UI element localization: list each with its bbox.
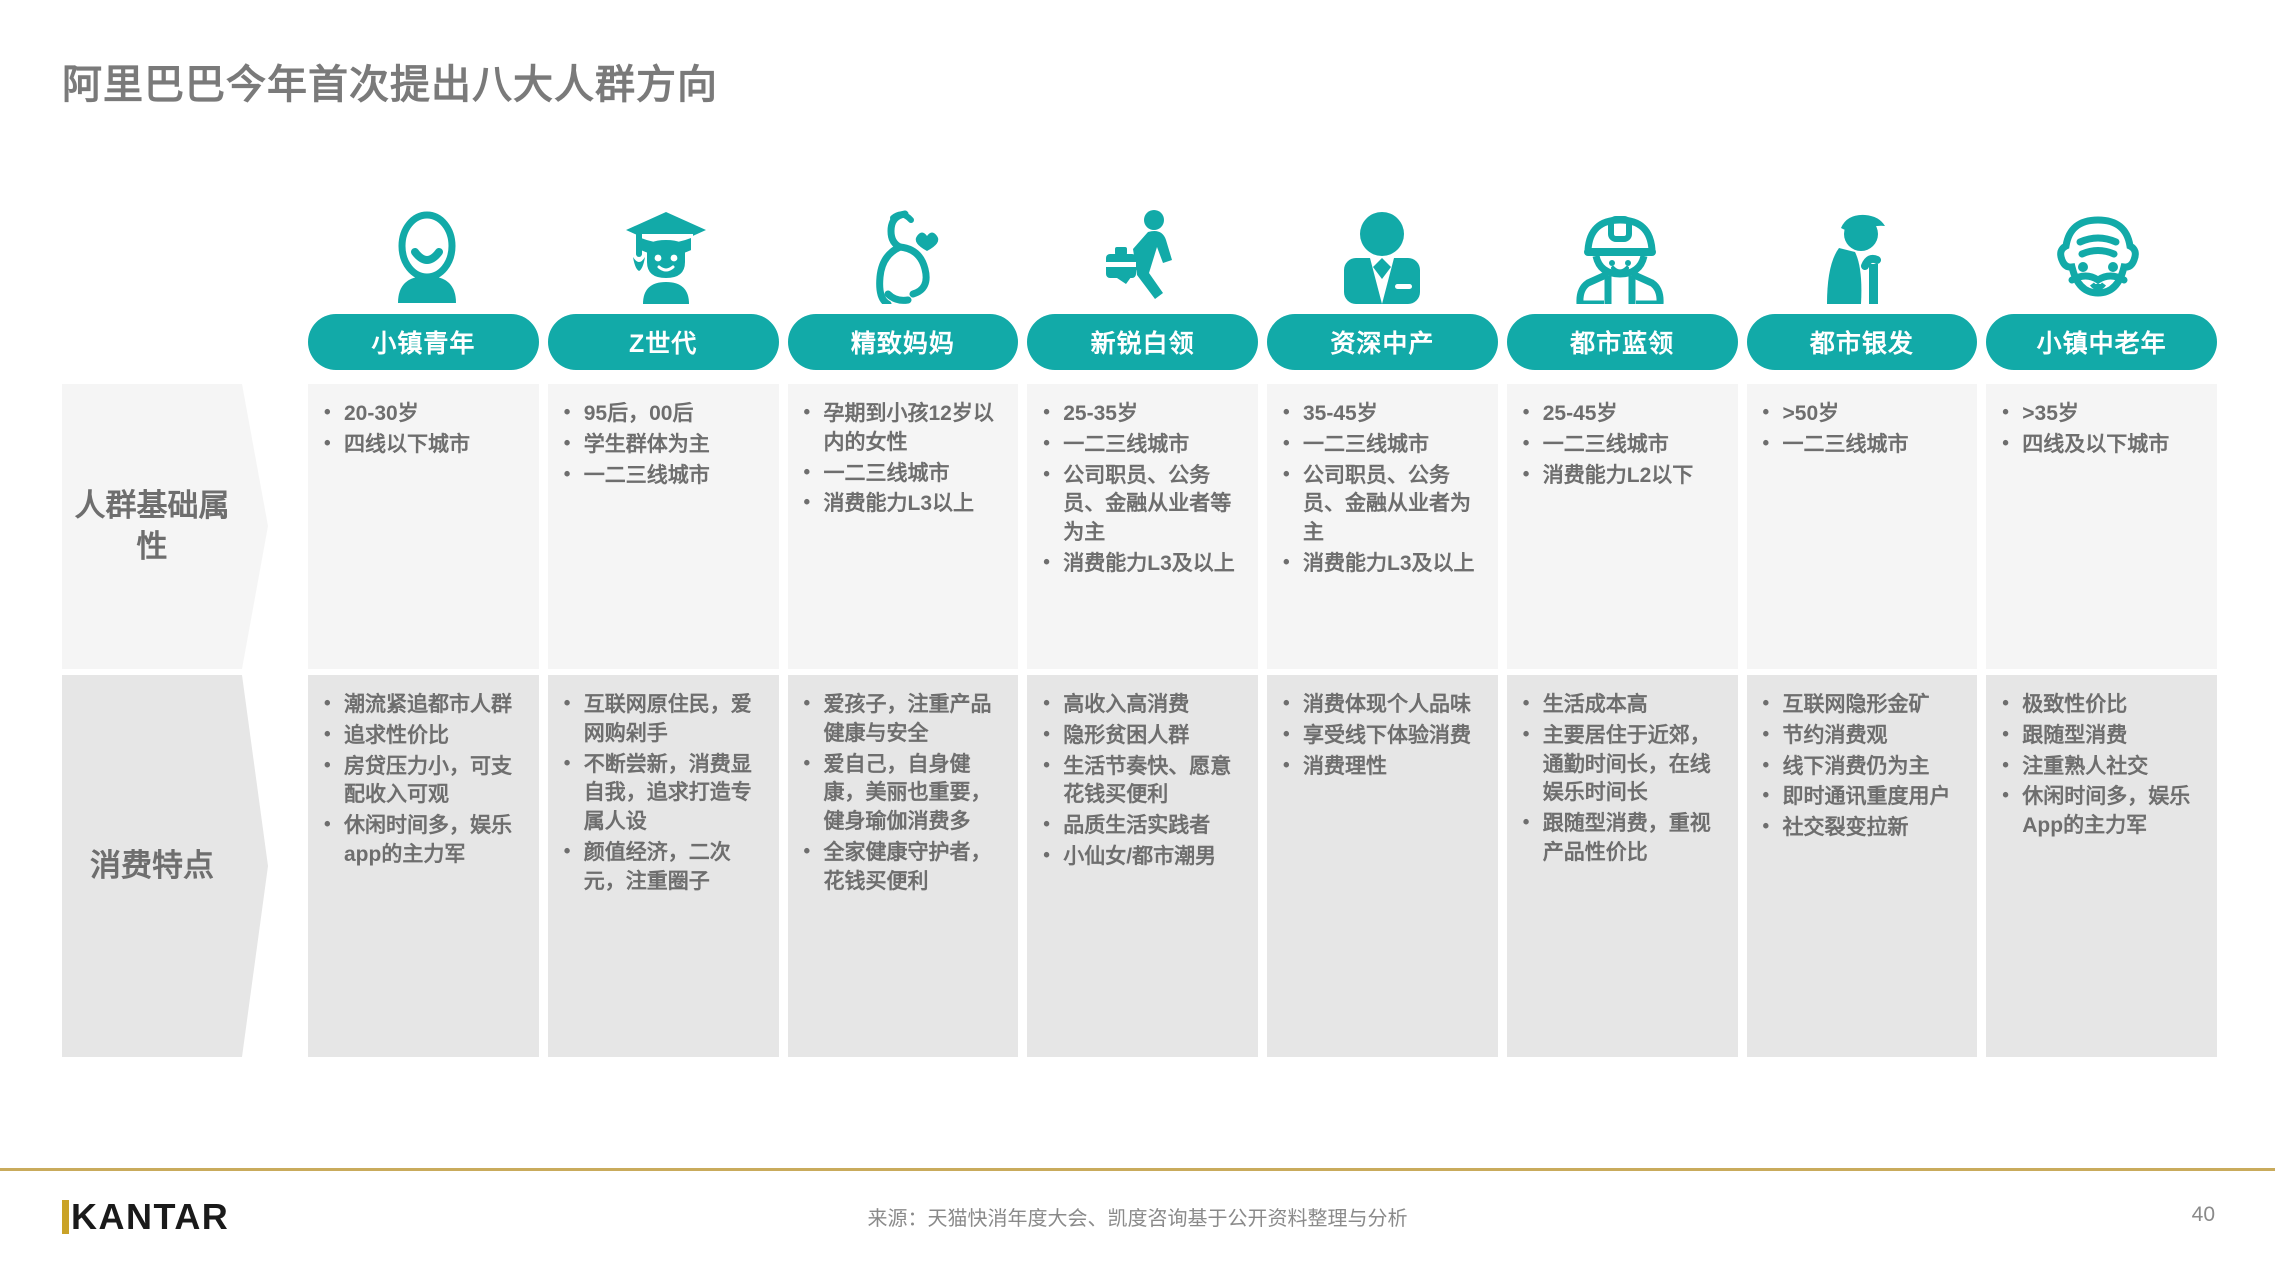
segment-matrix: 小镇青年 Z世代 精致妈妈 新锐白领 资深中产 都市蓝领 都市银发 小镇中老年 … [62,190,2217,1110]
pregnant-mother-icon [865,208,945,304]
list-item: 四线以下城市 [314,431,533,460]
cell-consume-7: 极致性价比 跟随型消费 注重熟人社交 休闲时间多，娱乐App的主力军 [1986,675,2217,1057]
cell-consume-2: 爱孩子，注重产品健康与安全 爱自己，自身健康，美丽也重要，健身瑜伽消费多 全家健… [788,675,1019,1057]
segment-pill-2[interactable]: 精致妈妈 [788,314,1019,370]
segment-pill-3[interactable]: 新锐白领 [1027,314,1258,370]
list-item: 小仙女/都市潮男 [1033,843,1252,872]
list-item: 房贷压力小，可支配收入可观 [314,753,533,811]
cell-consume-6: 互联网隐形金矿 节约消费观 线下消费仍为主 即时通讯重度用户 社交裂变拉新 [1747,675,1978,1057]
row-notch-arrow-basic [242,384,280,669]
list-item: 隐形贫困人群 [1033,722,1252,751]
list-item: 一二三线城市 [1513,431,1732,460]
segment-icon-cell-7 [1978,190,2217,308]
list-item: 休闲时间多，娱乐App的主力军 [1992,783,2211,841]
elderly-cane-icon [1821,208,1897,304]
list-item: 全家健康守护者，花钱买便利 [794,839,1013,897]
list-item: 生活成本高 [1513,691,1732,720]
row-label-basic-attributes-text: 人群基础属性 [62,486,242,568]
segment-icon-cell-4 [1263,190,1502,308]
list-item: 休闲时间多，娱乐app的主力军 [314,812,533,870]
segment-icon-cell-6 [1740,190,1979,308]
bullet-list: 20-30岁 四线以下城市 [314,400,533,460]
slide-root: 阿里巴巴今年首次提出八大人群方向 [0,0,2275,1280]
bullet-list: 潮流紧追都市人群 追求性价比 房贷压力小，可支配收入可观 休闲时间多，娱乐app… [314,691,533,870]
list-item: 高收入高消费 [1033,691,1252,720]
list-item: 公司职员、公务员、金融从业者等为主 [1033,462,1252,548]
list-item: >50岁 [1753,400,1972,429]
cell-basic-3: 25-35岁 一二三线城市 公司职员、公务员、金融从业者等为主 消费能力L3及以… [1027,384,1258,669]
list-item: 极致性价比 [1992,691,2211,720]
segment-icon-cell-0 [308,190,547,308]
list-item: 消费能力L3以上 [794,490,1013,519]
list-item: 潮流紧追都市人群 [314,691,533,720]
bullet-list: 互联网原住民，爱网购剁手 不断尝新，消费显自我，追求打造专属人设 颜值经济，二次… [554,691,773,896]
list-item: 互联网隐形金矿 [1753,691,1972,720]
list-item: 一二三线城市 [794,460,1013,489]
list-item: 学生群体为主 [554,431,773,460]
list-item: 主要居住于近郊，通勤时间长，在线娱乐时间长 [1513,722,1732,808]
list-item: 消费能力L3及以上 [1033,550,1252,579]
cell-basic-0: 20-30岁 四线以下城市 [308,384,539,669]
bullet-list: 孕期到小孩12岁以内的女性 一二三线城市 消费能力L3以上 [794,400,1013,519]
running-office-worker-icon [1102,208,1184,304]
list-item: 消费能力L3及以上 [1273,550,1492,579]
segment-pill-4[interactable]: 资深中产 [1267,314,1498,370]
cell-basic-4: 35-45岁 一二三线城市 公司职员、公务员、金融从业者为主 消费能力L3及以上 [1267,384,1498,669]
bullet-list: 消费体现个人品味 享受线下体验消费 消费理性 [1273,691,1492,781]
list-item: 节约消费观 [1753,722,1972,751]
young-person-icon [388,208,466,304]
segment-pill-5[interactable]: 都市蓝领 [1507,314,1738,370]
row-notch-arrow-consume [242,675,280,1057]
list-item: 享受线下体验消费 [1273,722,1492,751]
cell-consume-1: 互联网原住民，爱网购剁手 不断尝新，消费显自我，追求打造专属人设 颜值经济，二次… [548,675,779,1057]
footer-divider [0,1168,2275,1171]
list-item: 跟随型消费 [1992,722,2211,751]
cell-consume-4: 消费体现个人品味 享受线下体验消费 消费理性 [1267,675,1498,1057]
hardhat-worker-icon [1576,208,1664,304]
segment-pill-6[interactable]: 都市银发 [1747,314,1978,370]
list-item: 公司职员、公务员、金融从业者为主 [1273,462,1492,548]
cell-basic-7: >35岁 四线及以下城市 [1986,384,2217,669]
list-item: 社交裂变拉新 [1753,814,1972,843]
list-item: 一二三线城市 [1273,431,1492,460]
list-item: 25-35岁 [1033,400,1252,429]
bullet-list: 35-45岁 一二三线城市 公司职员、公务员、金融从业者为主 消费能力L3及以上 [1273,400,1492,579]
list-item: 爱孩子，注重产品健康与安全 [794,691,1013,749]
cell-consume-5: 生活成本高 主要居住于近郊，通勤时间长，在线娱乐时间长 跟随型消费，重视产品性价… [1507,675,1738,1057]
segment-icon-cell-2 [785,190,1024,308]
bullet-list: 极致性价比 跟随型消费 注重熟人社交 休闲时间多，娱乐App的主力军 [1992,691,2211,841]
bullet-list: >50岁 一二三线城市 [1753,400,1972,460]
segment-pill-7[interactable]: 小镇中老年 [1986,314,2217,370]
segment-pill-1[interactable]: Z世代 [548,314,779,370]
list-item: 孕期到小孩12岁以内的女性 [794,400,1013,458]
segment-pill-row: 小镇青年 Z世代 精致妈妈 新锐白领 资深中产 都市蓝领 都市银发 小镇中老年 [308,314,2217,370]
bullet-list: >35岁 四线及以下城市 [1992,400,2211,460]
list-item: 即时通讯重度用户 [1753,783,1972,812]
row-cells-basic: 20-30岁 四线以下城市 95后，00后 学生群体为主 一二三线城市 孕期到小… [308,384,2217,669]
cell-basic-2: 孕期到小孩12岁以内的女性 一二三线城市 消费能力L3以上 [788,384,1019,669]
list-item: 一二三线城市 [554,462,773,491]
cell-consume-3: 高收入高消费 隐形贫困人群 生活节奏快、愿意花钱买便利 品质生活实践者 小仙女/… [1027,675,1258,1057]
list-item: 追求性价比 [314,722,533,751]
graduate-student-icon [623,208,709,304]
list-item: 消费能力L2以下 [1513,462,1732,491]
list-item: 颜值经济，二次元，注重圈子 [554,839,773,897]
source-note: 来源：天猫快消年度大会、凯度咨询基于公开资料整理与分析 [0,1202,2275,1231]
list-item: >35岁 [1992,400,2211,429]
bullet-list: 爱孩子，注重产品健康与安全 爱自己，自身健康，美丽也重要，健身瑜伽消费多 全家健… [794,691,1013,896]
segment-pill-0[interactable]: 小镇青年 [308,314,539,370]
list-item: 一二三线城市 [1033,431,1252,460]
bullet-list: 互联网隐形金矿 节约消费观 线下消费仍为主 即时通讯重度用户 社交裂变拉新 [1753,691,1972,843]
list-item: 品质生活实践者 [1033,812,1252,841]
list-item: 生活节奏快、愿意花钱买便利 [1033,753,1252,811]
list-item: 20-30岁 [314,400,533,429]
cell-consume-0: 潮流紧追都市人群 追求性价比 房贷压力小，可支配收入可观 休闲时间多，娱乐app… [308,675,539,1057]
segment-icon-cell-1 [547,190,786,308]
list-item: 一二三线城市 [1753,431,1972,460]
list-item: 消费理性 [1273,753,1492,782]
bullet-list: 95后，00后 学生群体为主 一二三线城市 [554,400,773,490]
row-label-consumption-traits-text: 消费特点 [90,846,214,887]
segment-icon-row [308,190,2217,308]
list-item: 95后，00后 [554,400,773,429]
matrix-row-consumption-traits: 消费特点 潮流紧追都市人群 追求性价比 房贷压力小，可支配收入可观 休闲时间多，… [62,675,2217,1057]
list-item: 不断尝新，消费显自我，追求打造专属人设 [554,751,773,837]
cell-basic-5: 25-45岁 一二三线城市 消费能力L2以下 [1507,384,1738,669]
list-item: 消费体现个人品味 [1273,691,1492,720]
page-title: 阿里巴巴今年首次提出八大人群方向 [62,52,718,110]
bullet-list: 25-45岁 一二三线城市 消费能力L2以下 [1513,400,1732,490]
list-item: 爱自己，自身健康，美丽也重要，健身瑜伽消费多 [794,751,1013,837]
list-item: 四线及以下城市 [1992,431,2211,460]
page-number: 40 [2192,1203,2215,1227]
list-item: 注重熟人社交 [1992,753,2211,782]
row-cells-consume: 潮流紧追都市人群 追求性价比 房贷压力小，可支配收入可观 休闲时间多，娱乐app… [308,675,2217,1057]
cell-basic-6: >50岁 一二三线城市 [1747,384,1978,669]
segment-icon-cell-5 [1501,190,1740,308]
list-item: 互联网原住民，爱网购剁手 [554,691,773,749]
list-item: 35-45岁 [1273,400,1492,429]
bullet-list: 生活成本高 主要居住于近郊，通勤时间长，在线娱乐时间长 跟随型消费，重视产品性价… [1513,691,1732,868]
bullet-list: 25-35岁 一二三线城市 公司职员、公务员、金融从业者等为主 消费能力L3及以… [1033,400,1252,579]
bullet-list: 高收入高消费 隐形贫困人群 生活节奏快、愿意花钱买便利 品质生活实践者 小仙女/… [1033,691,1252,872]
businessman-suit-icon [1336,208,1428,304]
list-item: 25-45岁 [1513,400,1732,429]
row-label-basic-attributes: 人群基础属性 [62,384,242,669]
matrix-row-basic-attributes: 人群基础属性 20-30岁 四线以下城市 95后，00后 [62,384,2217,669]
list-item: 跟随型消费，重视产品性价比 [1513,810,1732,868]
senior-face-icon [2052,214,2144,304]
segment-icon-cell-3 [1024,190,1263,308]
matrix-body: 人群基础属性 20-30岁 四线以下城市 95后，00后 [62,384,2217,1063]
row-label-consumption-traits: 消费特点 [62,675,242,1057]
list-item: 线下消费仍为主 [1753,753,1972,782]
cell-basic-1: 95后，00后 学生群体为主 一二三线城市 [548,384,779,669]
